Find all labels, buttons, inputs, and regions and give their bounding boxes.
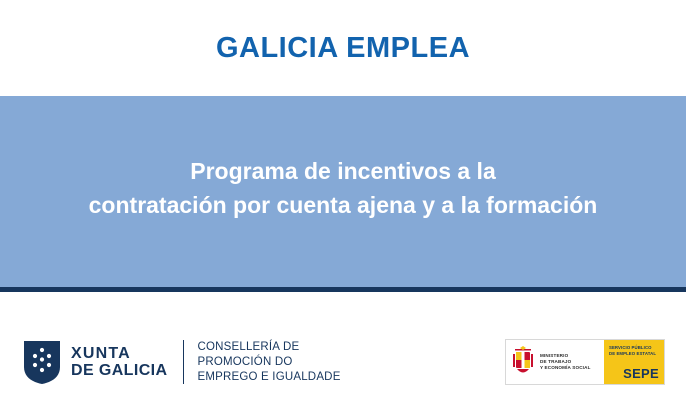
conselleria-line-2: PROMOCIÓN DO (197, 355, 340, 370)
ministerio-text: MINISTERIO DE TRABAJO Y ECONOMÍA SOCIAL (540, 353, 591, 372)
conselleria-line-1: CONSELLERÍA DE (197, 340, 340, 355)
sepe-line-2: DE EMPLEO ESTATAL (609, 351, 660, 357)
banner-text-block: Programa de incentivos a la contratación… (0, 154, 686, 230)
xunta-line-2: DE GALICIA (71, 362, 167, 379)
xunta-de-galicia-logo: XUNTA DE GALICIA CONSELLERÍA DE PROMOCIÓ… (22, 339, 341, 385)
spain-coat-of-arms-icon (510, 345, 536, 379)
logo-divider (183, 340, 184, 384)
header-area: GALICIA EMPLEA (0, 0, 686, 96)
xunta-shield-icon (22, 339, 62, 385)
page-title: GALICIA EMPLEA (216, 32, 470, 65)
banner-line-1: Programa de incentivos a la (0, 154, 686, 188)
ministerio-sepe-logo: MINISTERIO DE TRABAJO Y ECONOMÍA SOCIAL … (505, 339, 665, 385)
ministerio-block: MINISTERIO DE TRABAJO Y ECONOMÍA SOCIAL (506, 340, 604, 384)
sepe-acronym: SEPE (623, 366, 659, 381)
footer-area: XUNTA DE GALICIA CONSELLERÍA DE PROMOCIÓ… (0, 292, 686, 410)
blue-banner: Programa de incentivos a la contratación… (0, 96, 686, 287)
banner-line-2: contratación por cuenta ajena y a la for… (0, 188, 686, 222)
xunta-wordmark: XUNTA DE GALICIA (71, 345, 167, 379)
sepe-block: SERVICIO PÚBLICO DE EMPLEO ESTATAL SEPE (604, 340, 664, 384)
slide-page: GALICIA EMPLEA Programa de incentivos a … (0, 0, 686, 410)
xunta-line-1: XUNTA (71, 345, 167, 362)
ministerio-line-3: Y ECONOMÍA SOCIAL (540, 365, 591, 371)
conselleria-line-3: EMPREGO E IGUALDADE (197, 370, 340, 385)
conselleria-text: CONSELLERÍA DE PROMOCIÓN DO EMPREGO E IG… (197, 340, 340, 385)
